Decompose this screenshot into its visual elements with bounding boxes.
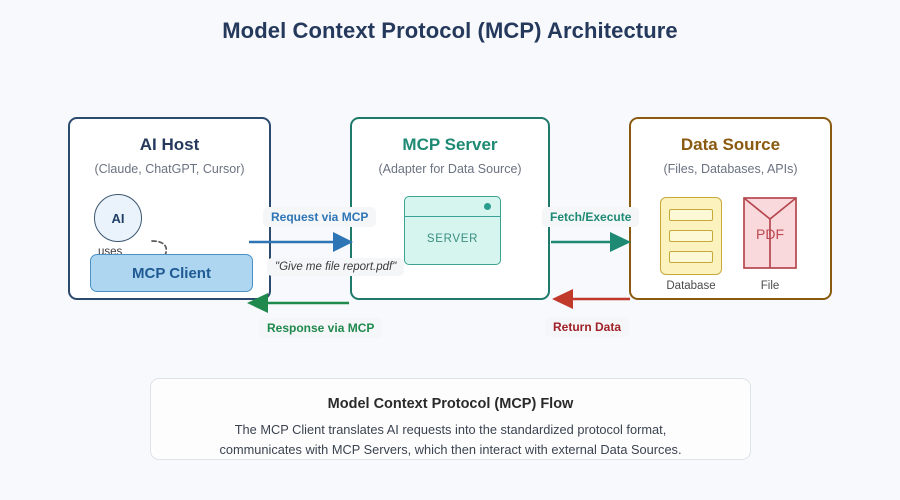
database-row [669,251,713,263]
ai-badge-icon: AI [94,194,142,242]
flow-caption-box: Model Context Protocol (MCP) Flow The MC… [150,378,751,460]
arrow-label-return-data: Return Data [545,317,629,337]
arrow-label-fetch-execute: Fetch/Execute [542,207,639,227]
diagram-canvas: Model Context Protocol (MCP) Architectur… [0,0,900,500]
ai-badge-label: AI [112,211,125,226]
mcp-client-box[interactable]: MCP Client [90,254,253,292]
node-data-source[interactable]: Data Source (Files, Databases, APIs) Dat… [629,117,832,300]
arrow-label-request-via-mcp: Request via MCP [263,207,376,227]
server-status-led-icon [484,203,491,210]
data-source-subtitle: (Files, Databases, APIs) [631,162,830,176]
mcp-server-title: MCP Server [352,135,548,155]
ai-host-subtitle: (Claude, ChatGPT, Cursor) [70,162,269,176]
data-source-title: Data Source [631,135,830,155]
arrow-fetch-execute [551,232,631,252]
database-icon [660,197,722,275]
database-row [669,209,713,221]
arrow-sublabel-request-quote: "Give me file report.pdf" [267,258,404,276]
server-titlebar [405,197,500,217]
page-title: Model Context Protocol (MCP) Architectur… [0,18,900,44]
pdf-file-icon: PDF [743,197,797,269]
arrow-return-data [552,289,630,309]
arrow-label-response-via-mcp: Response via MCP [259,318,382,338]
mcp-client-label: MCP Client [132,265,211,282]
server-graphic-label: SERVER [405,233,500,245]
mcp-server-subtitle: (Adapter for Data Source) [352,162,548,176]
svg-text:PDF: PDF [756,226,784,242]
database-row [669,230,713,242]
file-caption: File [743,280,797,292]
database-caption: Database [660,280,722,292]
server-rack-icon: SERVER [404,196,501,265]
flow-caption-body: The MCP Client translates AI requests in… [151,420,750,460]
node-ai-host[interactable]: AI Host (Claude, ChatGPT, Cursor) AI use… [68,117,271,300]
ai-host-title: AI Host [70,135,269,155]
flow-caption-title: Model Context Protocol (MCP) Flow [151,396,750,412]
flow-caption-line-1: The MCP Client translates AI requests in… [151,420,750,440]
flow-caption-line-2: communicates with MCP Servers, which the… [151,440,750,460]
